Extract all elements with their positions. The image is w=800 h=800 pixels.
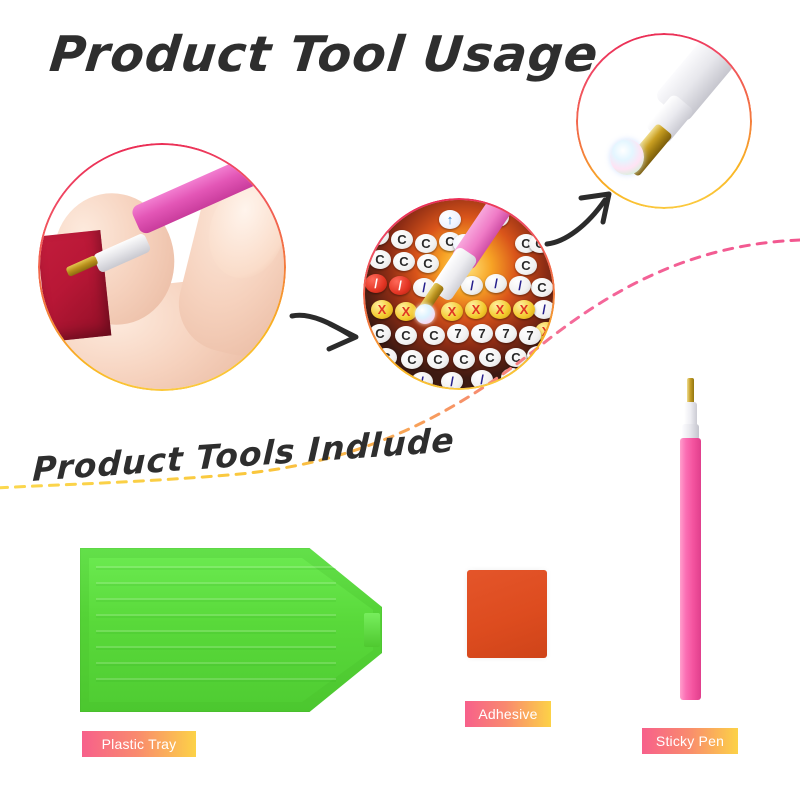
step-3-photo-inner [578, 35, 750, 207]
infographic-page: Product Tool Usage 7 C C C ↑ [0, 0, 800, 800]
tray-grooves [96, 566, 336, 694]
step-3-photo-pen-tip-closeup [576, 33, 752, 209]
adhesive-image [467, 570, 547, 658]
label-sticky-pen: Sticky Pen [642, 728, 738, 754]
pen-gold-tip [687, 378, 694, 404]
picked-up-drill [415, 304, 435, 324]
adhesive-wax-block [40, 230, 111, 342]
plastic-tray-image [80, 548, 382, 712]
tray-pour-spout [364, 613, 380, 647]
iridescent-drill [610, 139, 644, 175]
label-plastic-tray: Plastic Tray [82, 731, 196, 757]
drill: ↑ [439, 210, 461, 229]
label-adhesive: Adhesive [465, 701, 551, 727]
sticky-pen-image [678, 378, 704, 700]
page-title: Product Tool Usage [47, 26, 601, 83]
pen-shaft [680, 438, 701, 700]
